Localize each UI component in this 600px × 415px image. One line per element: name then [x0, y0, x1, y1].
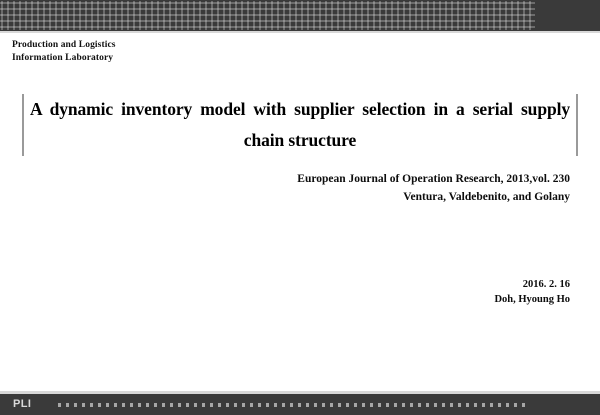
top-decorative-bar — [0, 0, 600, 31]
title-block: A dynamic inventory model with supplier … — [22, 94, 578, 156]
top-bar-grid-pattern — [0, 1, 535, 30]
slide-canvas: Production and Logistics Information Lab… — [0, 0, 600, 415]
title-rule-right — [576, 94, 578, 156]
page-title: A dynamic inventory model with supplier … — [30, 94, 570, 156]
presentation-date: 2016. 2. 16 — [494, 277, 570, 292]
laboratory-name-line-2: Information Laboratory — [12, 52, 116, 65]
laboratory-name: Production and Logistics Information Lab… — [12, 39, 116, 65]
presentation-info: 2016. 2. 16 Doh, Hyoung Ho — [494, 277, 570, 307]
title-rule-left — [22, 94, 24, 156]
presenter-name: Doh, Hyoung Ho — [494, 292, 570, 307]
journal-citation: European Journal of Operation Research, … — [297, 170, 570, 188]
footer-bar: PLI — [0, 394, 600, 415]
top-bar-divider — [0, 31, 600, 33]
footer-label: PLI — [13, 398, 31, 410]
page-title-line-2: chain structure — [30, 125, 570, 156]
page-title-line-1: A dynamic inventory model with supplier … — [30, 94, 570, 125]
footer-dot-pattern — [58, 403, 525, 407]
journal-authors: Ventura, Valdebenito, and Golany — [297, 188, 570, 206]
laboratory-name-line-1: Production and Logistics — [12, 39, 116, 52]
journal-reference: European Journal of Operation Research, … — [297, 170, 570, 206]
